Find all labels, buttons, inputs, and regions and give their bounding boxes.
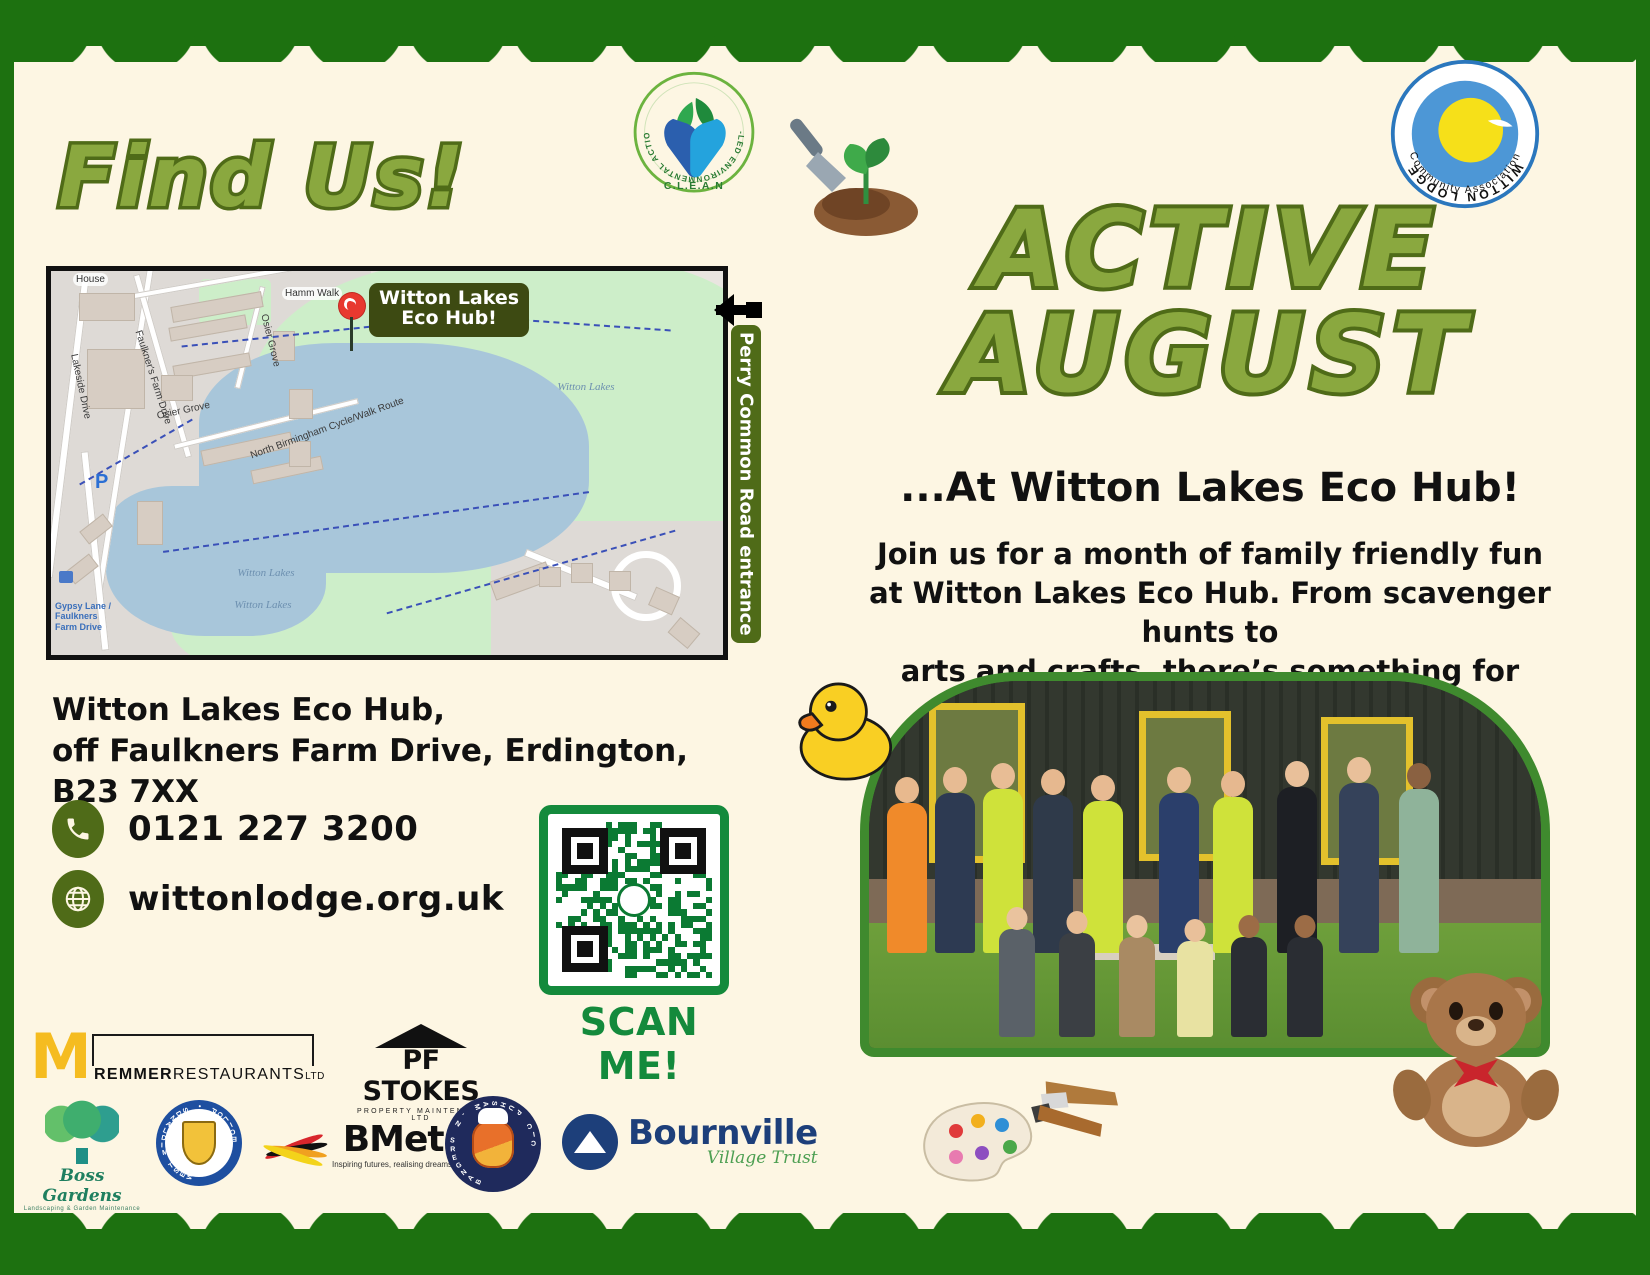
clean-logo: COMMUNITY-LED ENVIRONMENTAL ACTION NETWO… xyxy=(613,60,775,212)
photo-person-head xyxy=(1407,763,1431,789)
photo-person xyxy=(887,803,927,953)
ring-char: E xyxy=(452,1154,458,1162)
bournville-village-trust-logo: Bournville Village Trust xyxy=(562,1114,782,1170)
location-map[interactable]: House Hamm Walk Osier Grove Osier Grove … xyxy=(46,266,728,660)
scalloped-border-bottom xyxy=(0,1229,1650,1275)
blurb-line-2: at Witton Lakes Eco Hub. From scavenger … xyxy=(840,574,1580,652)
ring-char: C xyxy=(526,1121,533,1129)
blurb-line-1: Join us for a month of family friendly f… xyxy=(840,535,1580,574)
tree-icon xyxy=(45,1098,119,1152)
ring-char: S xyxy=(490,1101,497,1106)
boss-gardens-sub: Landscaping & Garden Maintenance xyxy=(22,1206,142,1212)
map-bus-icon xyxy=(59,571,73,583)
clean-acronym: C.L.E.A.N xyxy=(664,181,724,192)
boss-gardens-logo: Boss Gardens Landscaping & Garden Mainte… xyxy=(22,1098,142,1212)
ring-char: R xyxy=(450,1146,455,1153)
map-pin-highlight xyxy=(343,297,357,311)
remmer-restaurants-logo: REMMERRESTAURANTSLTD xyxy=(92,1066,332,1084)
ring-char: N xyxy=(453,1120,461,1129)
qr-module xyxy=(706,972,712,978)
photo-child-head xyxy=(1007,907,1028,930)
poster-title: ACTIVE AUGUST xyxy=(880,198,1540,408)
tree-trunk-icon xyxy=(76,1148,88,1164)
title-line-2: AUGUST xyxy=(880,303,1540,408)
photo-child xyxy=(999,929,1035,1037)
photo-person-head xyxy=(1221,771,1245,797)
ring-char: C xyxy=(531,1139,536,1146)
title-line-1: ACTIVE xyxy=(880,198,1540,303)
map-building xyxy=(161,375,193,401)
ring-char: I xyxy=(161,1142,163,1149)
ring-char: S xyxy=(449,1137,455,1145)
photo-person-head xyxy=(1091,775,1115,801)
bvt-triangle-icon xyxy=(574,1131,606,1153)
west-midlands-police-logo: WEST MIDLANDS • POLICE xyxy=(144,1100,254,1186)
photo-child xyxy=(1177,941,1213,1037)
poster-subheading: ...At Witton Lakes Eco Hub! xyxy=(860,465,1560,511)
map-callout: Witton Lakes Eco Hub! xyxy=(369,283,529,337)
map-building xyxy=(539,567,561,587)
map-building xyxy=(571,563,593,583)
website-url: wittonlodge.org.uk xyxy=(128,879,504,919)
sponsor-logos-row-2: Boss Gardens Landscaping & Garden Mainte… xyxy=(14,1098,774,1192)
phone-contact[interactable]: 0121 227 3200 xyxy=(52,800,418,858)
photo-person xyxy=(1339,783,1379,953)
bmet-swoosh-icon xyxy=(266,1116,328,1172)
ring-char: P xyxy=(514,1108,522,1116)
find-us-heading: Find Us! xyxy=(58,128,466,226)
entrance-arrow-icon xyxy=(716,305,760,315)
map-label: Hamm Walk xyxy=(282,287,342,300)
ring-char: ' xyxy=(458,1113,464,1119)
sponsor-logos-row-1: M REMMERRESTAURANTSLTD PF STOKES PROPERT… xyxy=(20,1030,500,1088)
ring-char: I xyxy=(532,1130,535,1137)
remmer-rest: RESTAURANTS xyxy=(173,1066,305,1083)
border-left xyxy=(0,0,14,1275)
bvt-wrap: Bournville Village Trust xyxy=(562,1114,782,1170)
bangers-badge-icon: BANGERS N' MASHUP CIC xyxy=(445,1096,541,1192)
photo-person-head xyxy=(1167,767,1191,793)
border-right xyxy=(1636,0,1650,1275)
photo-person xyxy=(935,793,975,953)
map-building xyxy=(609,571,631,591)
teddy-bear-illustration xyxy=(1386,955,1586,1155)
globe-icon xyxy=(52,870,104,928)
callout-line-1: Witton Lakes xyxy=(379,289,519,309)
photo-child-head xyxy=(1067,911,1088,934)
paint-palette-illustration xyxy=(918,1075,1138,1185)
photo-child-head xyxy=(1127,915,1148,938)
photo-person-head xyxy=(943,767,967,793)
photo-child xyxy=(1119,937,1155,1037)
callout-line-2: Eco Hub! xyxy=(379,309,519,329)
ring-char: M xyxy=(162,1149,169,1157)
address-block: Witton Lakes Eco Hub, off Faulkners Farm… xyxy=(52,690,752,813)
ring-char: A xyxy=(481,1101,489,1107)
entrance-label: Perry Common Road entrance xyxy=(731,325,761,643)
rubber-duck-illustration xyxy=(788,678,900,786)
ring-char: • xyxy=(195,1105,202,1108)
ring-char: E xyxy=(232,1135,237,1142)
map-pin-icon[interactable] xyxy=(339,293,365,319)
phone-icon xyxy=(52,800,104,858)
map-label: House xyxy=(73,273,108,286)
photo-person-head xyxy=(1347,757,1371,783)
photo-child xyxy=(1231,937,1267,1037)
remmer-bold: REMMER xyxy=(94,1066,173,1083)
mcdonalds-logo: M xyxy=(30,1032,92,1083)
photo-child xyxy=(1059,933,1095,1037)
scan-me-label: SCAN ME! xyxy=(536,1000,742,1088)
address-line-1: Witton Lakes Eco Hub, xyxy=(52,690,752,731)
map-parking-icon: P xyxy=(95,471,108,494)
qr-finder-icon xyxy=(562,926,608,972)
map-building xyxy=(137,501,163,545)
bangers-n-mashup-logo: BANGERS N' MASHUP CIC xyxy=(428,1096,558,1192)
scalloped-border-top xyxy=(0,0,1650,46)
photo-child xyxy=(1287,937,1323,1037)
ring-char: D xyxy=(160,1135,166,1143)
police-badge-icon: WEST MIDLANDS • POLICE xyxy=(156,1100,242,1186)
poster-root: Find Us! xyxy=(0,0,1650,1275)
photo-child-head xyxy=(1185,919,1206,942)
photo-person xyxy=(1033,795,1073,953)
photo-person-head xyxy=(1041,769,1065,795)
boss-gardens-name: Boss Gardens xyxy=(22,1166,142,1206)
photo-person-head xyxy=(1285,761,1309,787)
remmer-ltd: LTD xyxy=(305,1071,325,1082)
map-building xyxy=(289,389,313,419)
bournville-name: Bournville xyxy=(628,1116,818,1150)
phone-number: 0121 227 3200 xyxy=(128,809,418,849)
qr-finder-icon xyxy=(562,828,608,874)
bvt-badge-icon xyxy=(562,1114,618,1170)
map-building xyxy=(87,349,145,409)
map-building xyxy=(79,293,135,321)
chef-hat-icon xyxy=(478,1108,508,1124)
photo-person xyxy=(1399,789,1439,953)
qr-finder-icon xyxy=(660,828,706,874)
website-contact[interactable]: wittonlodge.org.uk xyxy=(52,870,504,928)
ring-char: B xyxy=(475,1178,483,1186)
photo-person-head xyxy=(991,763,1015,789)
ring-char: H xyxy=(498,1101,506,1108)
qr-center-globe-icon xyxy=(617,883,651,917)
photo-child-head xyxy=(1295,915,1316,938)
ring-char: S xyxy=(180,1107,188,1114)
qr-code[interactable] xyxy=(539,805,729,995)
photo-child-head xyxy=(1239,915,1260,938)
map-poi-label: Gypsy Lane / Faulkners Farm Drive xyxy=(55,601,121,632)
map-water-label: Witton Lakes xyxy=(233,599,293,611)
map-water-label: Witton Lakes xyxy=(551,381,621,393)
map-water-label: Witton Lakes xyxy=(221,567,311,579)
police-ring-text: WEST MIDLANDS • POLICE xyxy=(156,1100,242,1186)
photo-person xyxy=(1083,801,1123,953)
